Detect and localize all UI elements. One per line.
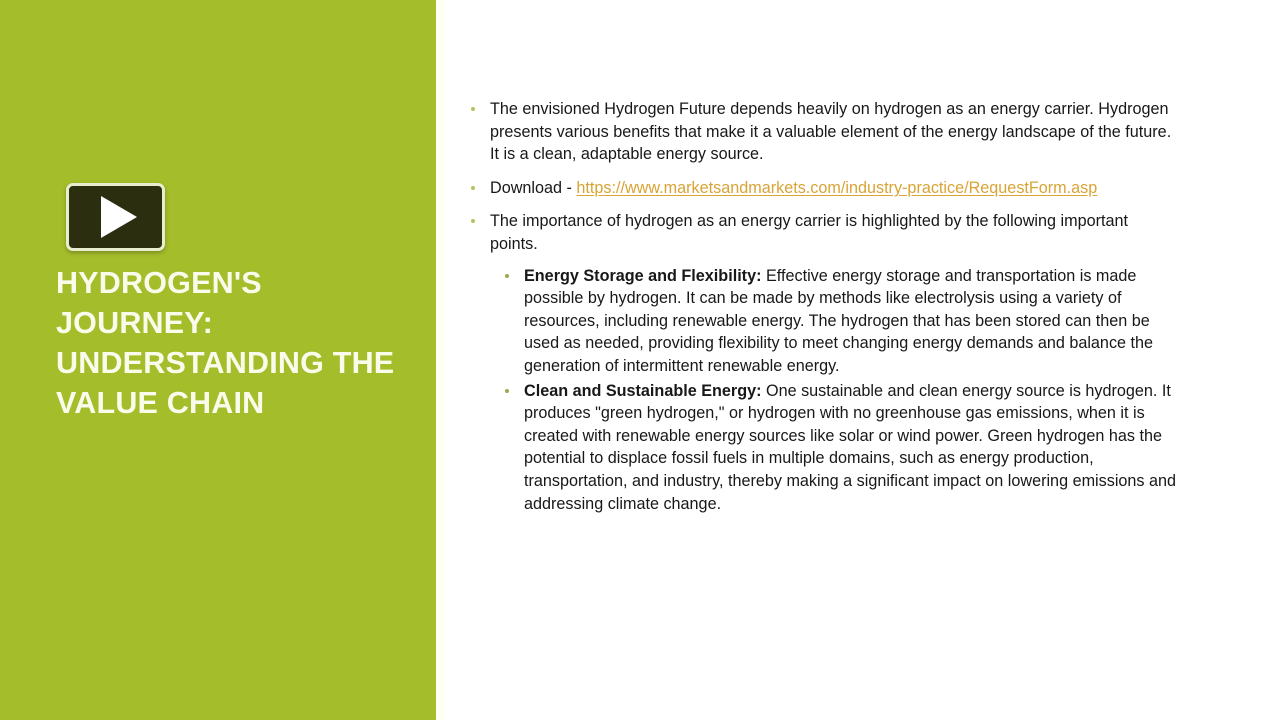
play-video-button[interactable]: [66, 183, 165, 251]
bullet-dot-icon: [505, 274, 509, 278]
bullet-dot-icon: [471, 107, 475, 111]
sub-bullet-item: Clean and Sustainable Energy: One sustai…: [502, 380, 1180, 516]
slide-body: The envisioned Hydrogen Future depends h…: [466, 98, 1180, 517]
sub-bullet-list: Energy Storage and Flexibility: Effectiv…: [490, 265, 1180, 516]
sub-bullet-lead-in: Clean and Sustainable Energy:: [524, 382, 761, 400]
sub-bullet-item: Energy Storage and Flexibility: Effectiv…: [502, 265, 1180, 378]
play-icon: [101, 196, 137, 238]
bullet-item: The envisioned Hydrogen Future depends h…: [466, 98, 1180, 166]
presentation-slide: HYDROGEN'S JOURNEY: UNDERSTANDING THE VA…: [0, 0, 1280, 720]
bullet-dot-icon: [471, 219, 475, 223]
page-title: HYDROGEN'S JOURNEY: UNDERSTANDING THE VA…: [56, 263, 396, 423]
bullet-dot-icon: [471, 186, 475, 190]
sub-bullet-lead-in: Energy Storage and Flexibility:: [524, 267, 761, 285]
bullet-item: The importance of hydrogen as an energy …: [466, 210, 1180, 515]
download-label: Download -: [490, 179, 576, 197]
bullet-text: The importance of hydrogen as an energy …: [490, 212, 1128, 253]
bullet-text: The envisioned Hydrogen Future depends h…: [490, 100, 1171, 163]
bullet-dot-icon: [505, 389, 509, 393]
panel-seam: [436, 0, 445, 720]
sub-bullet-text: One sustainable and clean energy source …: [524, 382, 1176, 513]
request-form-link[interactable]: https://www.marketsandmarkets.com/indust…: [576, 179, 1097, 197]
bullet-item-download: Download - https://www.marketsandmarkets…: [466, 177, 1180, 200]
